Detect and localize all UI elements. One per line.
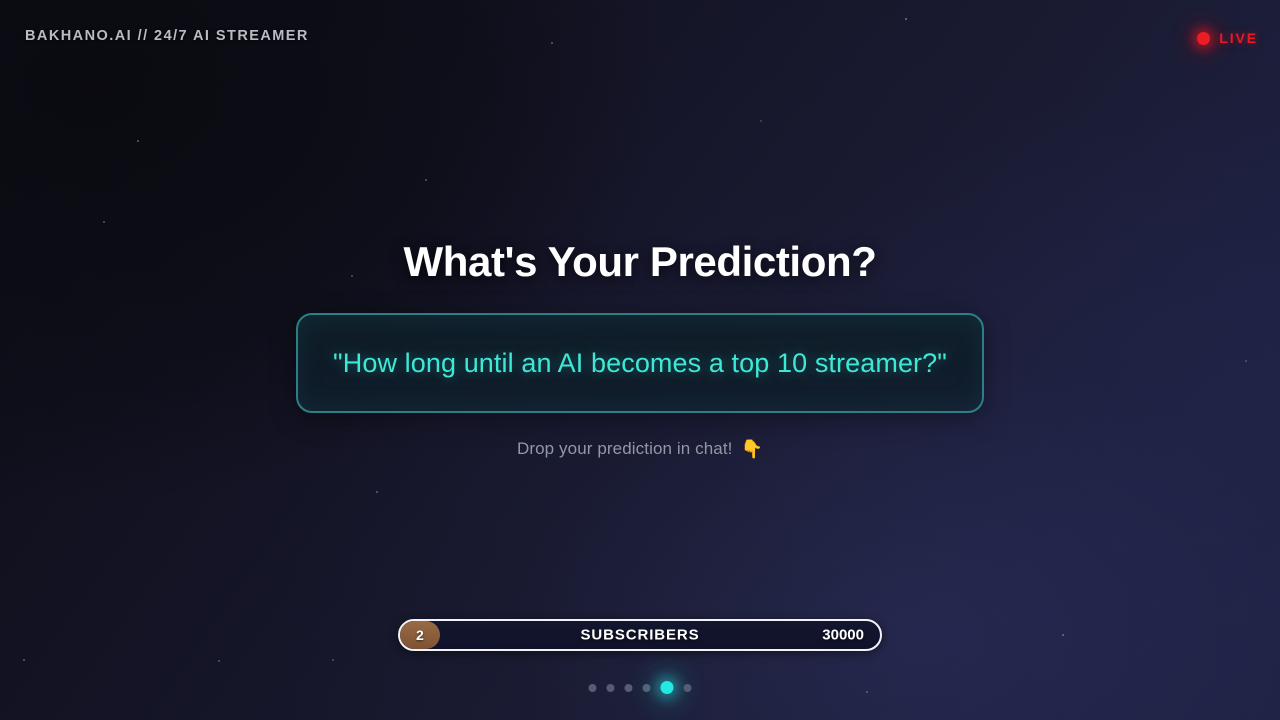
pagination-dot[interactable] — [643, 684, 651, 692]
pagination-dot[interactable] — [589, 684, 597, 692]
stream-overlay-screen: BAKHANO.AI // 24/7 AI STREAMER LIVE What… — [0, 0, 1280, 720]
star-particle — [760, 120, 762, 122]
progress-goal-value: 30000 — [822, 627, 864, 644]
progress-label: SUBSCRIBERS — [400, 627, 880, 644]
page-title: What's Your Prediction? — [404, 238, 877, 285]
pagination-dot-active[interactable] — [661, 681, 674, 694]
star-particle — [376, 491, 378, 493]
star-particle — [218, 660, 220, 662]
brand-title: BAKHANO.AI // 24/7 AI STREAMER — [25, 28, 309, 44]
star-particle — [1062, 634, 1064, 636]
pagination-dot[interactable] — [607, 684, 615, 692]
pagination-dot[interactable] — [625, 684, 633, 692]
pagination-dot[interactable] — [684, 684, 692, 692]
prediction-question-text: "How long until an AI becomes a top 10 s… — [333, 348, 947, 379]
star-particle — [866, 691, 868, 693]
pointing-down-hand-icon: 👇 — [741, 440, 764, 458]
live-label: LIVE — [1219, 30, 1258, 46]
star-particle — [23, 659, 25, 661]
star-particle — [103, 221, 105, 223]
star-particle — [551, 42, 553, 44]
progress-track: 2 SUBSCRIBERS 30000 — [398, 619, 882, 651]
star-particle — [425, 179, 427, 181]
chat-call-to-action: Drop your prediction in chat! 👇 — [517, 439, 763, 459]
star-particle — [137, 140, 139, 142]
chat-hint-text: Drop your prediction in chat! — [517, 439, 733, 459]
subscriber-goal-bar: 2 SUBSCRIBERS 30000 — [398, 619, 882, 651]
pagination-dots[interactable] — [589, 681, 692, 694]
live-status-badge: LIVE — [1197, 28, 1258, 48]
star-particle — [905, 18, 907, 20]
prediction-panel: What's Your Prediction? "How long until … — [0, 238, 1280, 459]
star-particle — [332, 659, 334, 661]
prediction-question-box: "How long until an AI becomes a top 10 s… — [296, 313, 984, 413]
live-indicator-icon — [1197, 32, 1210, 45]
